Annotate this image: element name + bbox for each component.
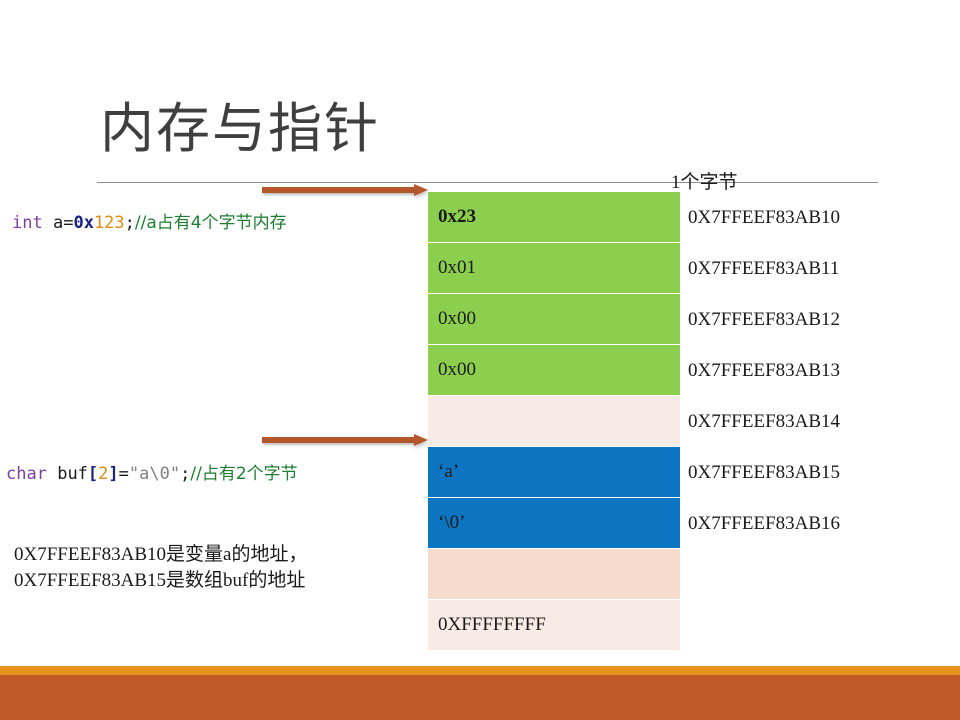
code-hex-prefix: 0x [73,213,93,233]
memory-address-list: 0X7FFEEF83AB10 0X7FFEEF83AB11 0X7FFEEF83… [688,192,888,549]
memory-cell-value: 0x01 [438,257,476,279]
code-semicolon: ; [180,464,190,484]
memory-cell: 0x00 [428,345,680,395]
code-string-literal: "a\0" [129,464,180,484]
arrow-head [414,184,428,196]
memory-cell: ‘a’ [428,447,680,497]
arrow-shaft [262,187,414,193]
code-space [47,464,57,484]
code-keyword-char: char [6,464,47,484]
memory-cell: 0XFFFFFFFF [428,600,680,650]
memory-cell-value: ‘\0’ [438,512,465,534]
footer-band [0,675,960,720]
code-number-2: 2 [98,464,108,484]
address-label: 0X7FFEEF83AB10 [688,192,888,243]
memory-cell: 0x01 [428,243,680,293]
code-comment-int: //a占有4个字节内存 [135,213,287,233]
footer-stripe [0,666,960,675]
memory-cell-stack: 0x23 0x01 0x00 0x00 ‘a’ ‘\0’ 0XFFFFFFFF [428,192,680,651]
address-note-line-1: 0X7FFEEF83AB10是变量a的地址， [14,542,307,568]
byte-size-label: 1个字节 [671,172,738,194]
title-divider [97,182,878,183]
memory-cell: 0x00 [428,294,680,344]
address-label: 0X7FFEEF83AB11 [688,243,888,294]
code-bracket-close: ] [108,464,118,484]
code-line-char-declaration: char buf[2]="a\0";//占有2个字节 [6,463,298,485]
code-semicolon: ; [125,213,135,233]
code-number-123: 123 [94,213,125,233]
memory-cell-value: 0x00 [438,308,476,330]
arrow-to-int-bytes [262,184,428,196]
address-label: 0X7FFEEF83AB13 [688,345,888,396]
address-label: 0X7FFEEF83AB14 [688,396,888,447]
address-label: 0X7FFEEF83AB15 [688,447,888,498]
arrow-shaft [262,437,414,443]
memory-cell-value: ‘a’ [438,461,459,483]
memory-cell [428,396,680,446]
memory-cell [428,549,680,599]
code-keyword-int: int [12,213,43,233]
code-equals: = [119,464,129,484]
slide-canvas: 内存与指针 int a=0x123;//a占有4个字节内存 char buf[2… [0,0,960,720]
code-identifier-buf: buf [57,464,88,484]
memory-cell: ‘\0’ [428,498,680,548]
address-note-line-2: 0X7FFEEF83AB15是数组buf的地址 [14,568,307,594]
address-note: 0X7FFEEF83AB10是变量a的地址， 0X7FFEEF83AB15是数组… [14,542,307,594]
code-identifier-a: a= [53,213,73,233]
page-title: 内存与指针 [100,96,380,162]
address-label: 0X7FFEEF83AB12 [688,294,888,345]
code-line-int-declaration: int a=0x123;//a占有4个字节内存 [12,212,287,234]
memory-cell-value: 0x23 [438,206,476,228]
code-space [43,213,53,233]
memory-cell-value: 0XFFFFFFFF [438,614,546,636]
memory-cell-value: 0x00 [438,359,476,381]
code-comment-char: //占有2个字节 [190,464,297,484]
arrow-to-char-bytes [262,434,428,446]
address-label: 0X7FFEEF83AB16 [688,498,888,549]
code-bracket-open: [ [88,464,98,484]
memory-cell: 0x23 [428,192,680,242]
arrow-head [414,434,428,446]
